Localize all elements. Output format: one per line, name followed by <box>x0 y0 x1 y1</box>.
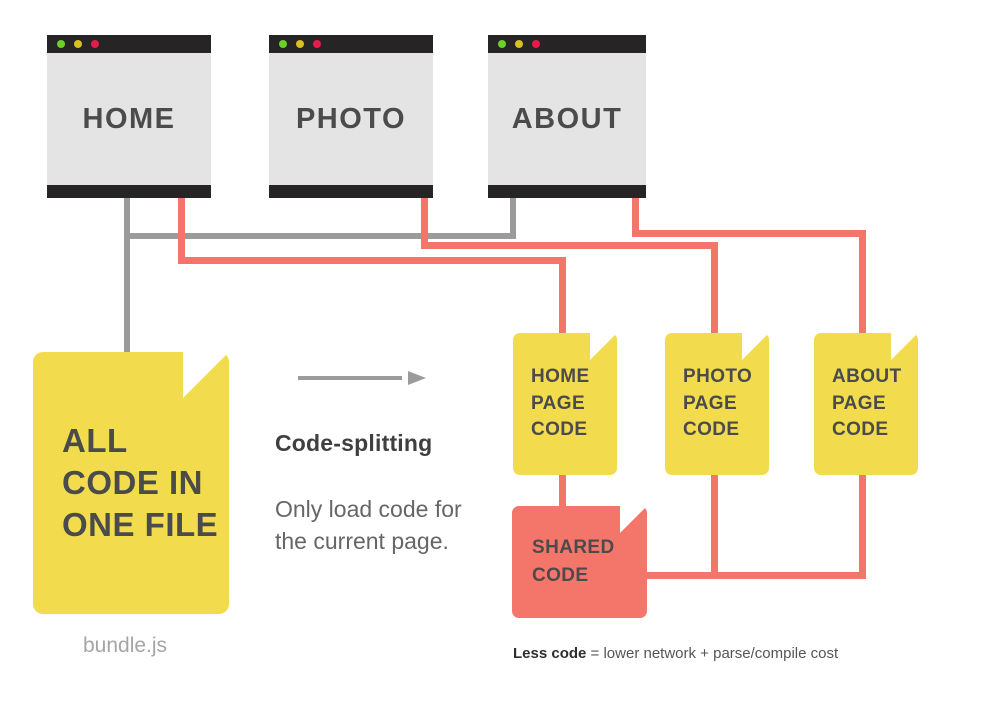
browser-titlebar <box>47 35 211 53</box>
browser-footer <box>269 185 433 198</box>
file-label-about-page-code: ABOUT PAGE CODE <box>814 333 918 475</box>
file-label-bundle: ALL CODE IN ONE FILE <box>33 352 229 614</box>
yellow-dot-icon <box>296 40 304 48</box>
wire-red-home-horizontal <box>178 257 566 264</box>
browser-title-photo: PHOTO <box>269 53 433 185</box>
red-dot-icon <box>532 40 540 48</box>
file-about-page-code[interactable]: ABOUT PAGE CODE <box>814 333 918 475</box>
footnote-strong: Less code <box>513 645 586 662</box>
wire-red-shared-about-drop <box>859 462 866 578</box>
wire-red-shared-bus <box>640 572 866 579</box>
file-home-page-code[interactable]: HOME PAGE CODE <box>513 333 617 475</box>
yellow-dot-icon <box>74 40 82 48</box>
arrow-shaft <box>298 376 402 380</box>
heading-code-splitting: Code-splitting <box>275 430 432 457</box>
footnote-less-code: Less code = lower network + parse/compil… <box>513 645 838 662</box>
wire-red-about-drop <box>859 230 866 339</box>
caption-bundle-filename: bundle.js <box>83 634 167 658</box>
browser-footer <box>47 185 211 198</box>
browser-titlebar <box>488 35 646 53</box>
wire-red-photo-vertical <box>421 196 428 248</box>
browser-title-home: HOME <box>47 53 211 185</box>
browser-titlebar <box>269 35 433 53</box>
file-shared-code[interactable]: SHARED CODE <box>512 506 647 618</box>
wire-red-home-vertical <box>178 196 185 263</box>
file-bundle-all-code[interactable]: ALL CODE IN ONE FILE <box>33 352 229 614</box>
green-dot-icon <box>279 40 287 48</box>
wire-gray-home-vertical <box>124 196 130 356</box>
wire-red-home-drop <box>559 257 566 339</box>
browser-window-home[interactable]: HOME <box>47 35 211 198</box>
footnote-rest: = lower network + parse/compile cost <box>586 645 838 662</box>
file-photo-page-code[interactable]: PHOTO PAGE CODE <box>665 333 769 475</box>
diagram-canvas: HOME PHOTO ABOUT ALL CODE IN ONE FILE bu… <box>0 0 995 715</box>
yellow-dot-icon <box>515 40 523 48</box>
wire-red-shared-photo-drop <box>711 462 718 578</box>
right-arrow-icon <box>298 371 426 385</box>
description-code-splitting: Only load code for the current page. <box>275 493 475 557</box>
wire-red-photo-drop <box>711 242 718 339</box>
file-label-shared-code: SHARED CODE <box>512 506 647 618</box>
browser-window-about[interactable]: ABOUT <box>488 35 646 198</box>
wire-gray-about-vertical <box>510 196 516 239</box>
red-dot-icon <box>313 40 321 48</box>
browser-footer <box>488 185 646 198</box>
browser-window-photo[interactable]: PHOTO <box>269 35 433 198</box>
browser-title-about: ABOUT <box>488 53 646 185</box>
file-label-home-page-code: HOME PAGE CODE <box>513 333 617 475</box>
green-dot-icon <box>57 40 65 48</box>
file-label-photo-page-code: PHOTO PAGE CODE <box>665 333 769 475</box>
wire-red-photo-horizontal <box>421 242 718 249</box>
red-dot-icon <box>91 40 99 48</box>
green-dot-icon <box>498 40 506 48</box>
arrow-head <box>408 371 426 385</box>
wire-red-about-horizontal <box>632 230 866 237</box>
